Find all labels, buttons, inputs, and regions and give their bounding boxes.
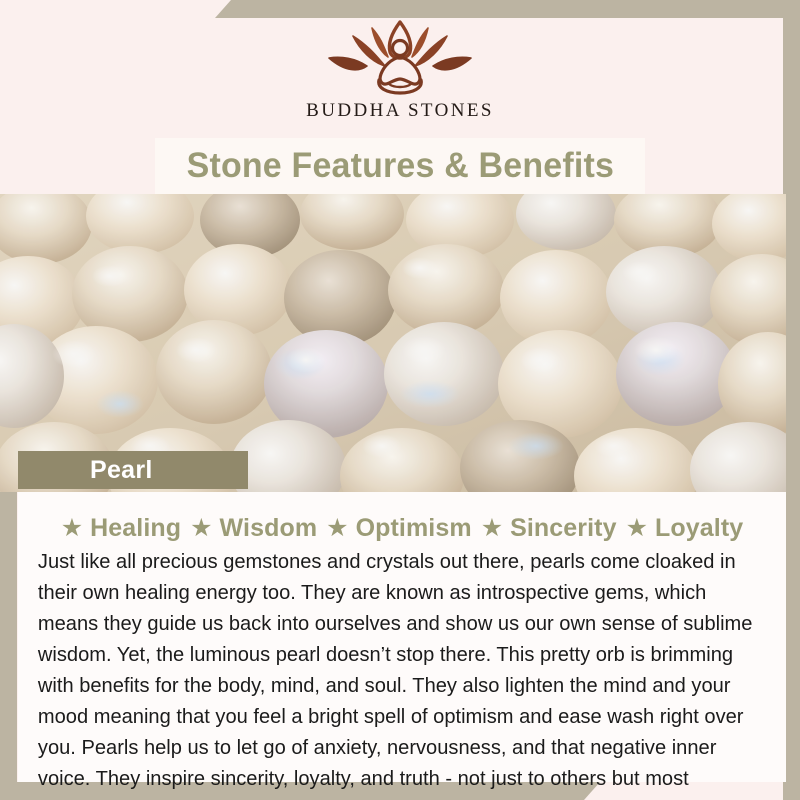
brand-name: BUDDHA STONES: [306, 100, 494, 122]
benefit-label: Optimism: [356, 514, 472, 543]
title-banner: Stone Features & Benefits: [155, 138, 645, 194]
benefit-label: Sincerity: [510, 514, 617, 543]
page-title: Stone Features & Benefits: [186, 146, 613, 186]
pearl-cluster-photo: [0, 194, 786, 492]
star-icon: ★: [481, 516, 503, 541]
benefit-item: ★ Loyalty: [626, 514, 744, 543]
star-icon: ★: [190, 516, 212, 541]
benefit-label: Healing: [90, 514, 181, 543]
brand-header: BUDDHA STONES: [0, 0, 800, 140]
stone-description: Just like all precious gemstones and cry…: [32, 547, 761, 800]
stone-name-label: Pearl: [18, 451, 248, 489]
benefits-list: ★ Healing ★ Wisdom ★ Optimism ★ Sincerit…: [32, 514, 772, 543]
lotus-meditation-figure-icon: [315, 14, 485, 98]
benefit-item: ★ Sincerity: [481, 514, 617, 543]
stone-name-text: Pearl: [90, 456, 153, 485]
benefit-item: ★ Healing: [61, 514, 181, 543]
star-icon: ★: [326, 516, 348, 541]
star-icon: ★: [61, 516, 83, 541]
benefit-label: Wisdom: [220, 514, 318, 543]
benefit-item: ★ Optimism: [326, 514, 472, 543]
benefit-item: ★ Wisdom: [190, 514, 317, 543]
benefit-label: Loyalty: [655, 514, 743, 543]
star-icon: ★: [626, 516, 648, 541]
infographic-poster: BUDDHA STONES Stone Features & Benefits: [0, 0, 800, 800]
content-card: ★ Healing ★ Wisdom ★ Optimism ★ Sincerit…: [18, 492, 786, 782]
